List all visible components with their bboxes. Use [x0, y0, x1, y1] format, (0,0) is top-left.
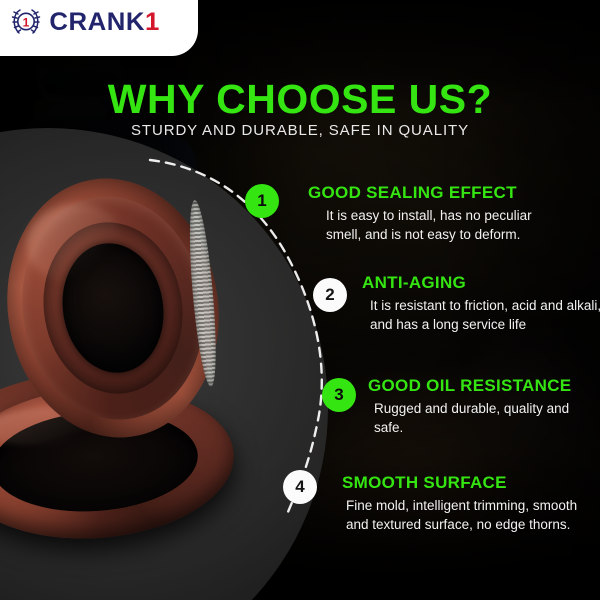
- feature-2-body: It is resistant to friction, acid and al…: [362, 296, 600, 334]
- brand-logo-banner[interactable]: 1 CRANK1: [0, 0, 198, 56]
- badge-number: 1: [23, 16, 30, 30]
- feature-item-3: GOOD OIL RESISTANCE Rugged and durable, …: [368, 376, 600, 437]
- feature-1-title: GOOD SEALING EFFECT: [308, 183, 570, 203]
- feature-marker-1-number: 1: [257, 191, 266, 211]
- feature-marker-3[interactable]: 3: [322, 378, 356, 412]
- feature-4-body: Fine mold, intelligent trimming, smooth …: [342, 496, 598, 534]
- feature-item-1: GOOD SEALING EFFECT It is easy to instal…: [308, 183, 570, 244]
- feature-marker-1[interactable]: 1: [245, 184, 279, 218]
- feature-item-2: ANTI-AGING It is resistant to friction, …: [362, 273, 600, 334]
- laurel-wreath-number-one-icon: 1: [8, 5, 44, 39]
- feature-2-title: ANTI-AGING: [362, 273, 600, 293]
- infographic-canvas: 1 CRANK1 WHY CHOOSE US? STURDY AND DURAB…: [0, 0, 600, 600]
- brand-name-main: CRANK: [49, 8, 145, 36]
- product-oil-seals: [0, 178, 260, 578]
- feature-3-body: Rugged and durable, quality and safe.: [368, 399, 600, 437]
- feature-item-4: SMOOTH SURFACE Fine mold, intelligent tr…: [342, 473, 598, 534]
- page-subheadline: STURDY AND DURABLE, SAFE IN QUALITY: [0, 122, 600, 139]
- feature-marker-4-number: 4: [295, 477, 304, 497]
- feature-3-title: GOOD OIL RESISTANCE: [368, 376, 600, 396]
- feature-marker-4[interactable]: 4: [283, 470, 317, 504]
- feature-marker-2[interactable]: 2: [313, 278, 347, 312]
- feature-marker-3-number: 3: [334, 385, 343, 405]
- feature-4-title: SMOOTH SURFACE: [342, 473, 598, 493]
- page-headline: WHY CHOOSE US?: [0, 76, 600, 123]
- feature-marker-2-number: 2: [325, 285, 334, 305]
- brand-name-suffix: 1: [145, 8, 160, 36]
- brand-wordmark: CRANK1: [49, 8, 159, 37]
- feature-1-body: It is easy to install, has no peculiar s…: [308, 206, 570, 244]
- oil-seal-standing: [0, 163, 237, 453]
